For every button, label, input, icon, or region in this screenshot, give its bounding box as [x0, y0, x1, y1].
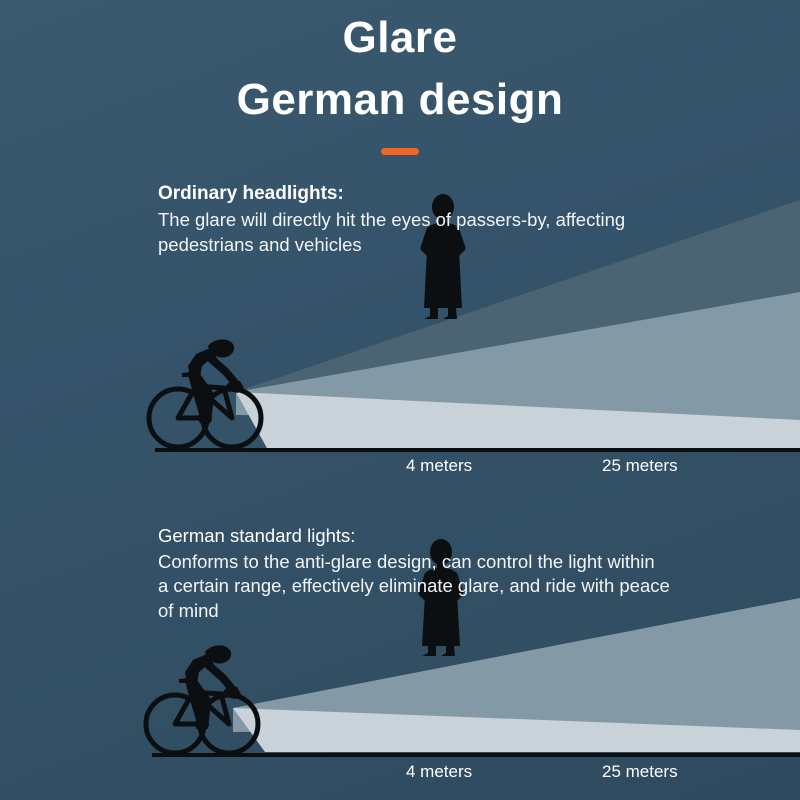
ground-line — [152, 753, 800, 757]
section-ordinary-body-line-1: The glare will directly hit the eyes of … — [158, 208, 758, 233]
section-ordinary-heading: Ordinary headlights: — [158, 182, 758, 206]
section-ordinary-body-line-2: pedestrians and vehicles — [158, 233, 758, 258]
cyclist-silhouette — [146, 645, 258, 753]
distance-label-far-scene-2: 25 meters — [602, 762, 678, 782]
section-german-body-line-1: Conforms to the anti-glare design, can c… — [158, 550, 758, 575]
distance-label-near-scene-2: 4 meters — [406, 762, 472, 782]
section-german-text: German standard lights: Conforms to the … — [158, 524, 758, 623]
distance-label-near-scene-1: 4 meters — [406, 456, 472, 476]
section-german-heading: German standard lights: — [158, 524, 758, 548]
page-title-line-1: Glare — [0, 16, 800, 60]
cyclist-silhouette — [149, 339, 261, 447]
infographic-page: Glare German design — [0, 0, 800, 800]
header: Glare German design — [0, 0, 800, 155]
ground-line — [155, 448, 800, 452]
section-german-body-line-3: of mind — [158, 599, 758, 624]
page-title-line-2: German design — [0, 78, 800, 122]
section-german-body-line-2: a certain range, effectively eliminate g… — [158, 574, 758, 599]
distance-label-far-scene-1: 25 meters — [602, 456, 678, 476]
section-ordinary-text: Ordinary headlights: The glare will dire… — [158, 182, 758, 258]
accent-divider — [381, 148, 419, 155]
